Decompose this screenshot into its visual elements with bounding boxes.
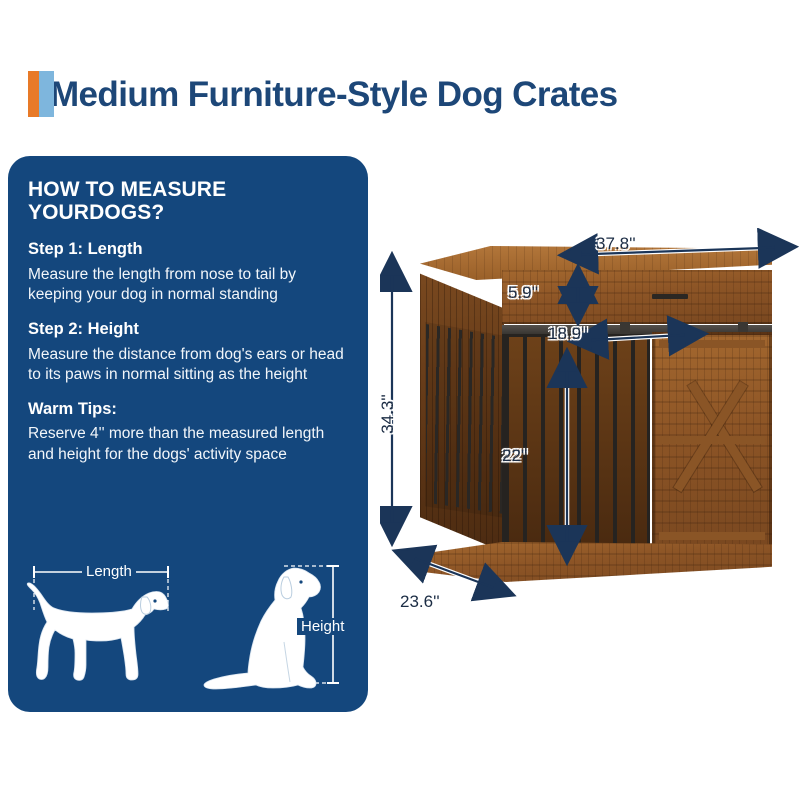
warm-tips-title: Warm Tips: (28, 400, 348, 420)
panel-heading: HOW TO MEASURE YOURDOGS? (28, 178, 348, 224)
accent-blue-stripe (39, 71, 54, 117)
crate-front-gate-bars (502, 334, 650, 548)
dog-measure-diagrams: Length Height (8, 546, 368, 706)
dimension-depth-label: 23.6'' (400, 592, 440, 612)
dog-crate-furniture (420, 246, 772, 576)
warm-tips-body: Reserve 4'' more than the measured lengt… (28, 424, 348, 465)
crate-front-face (502, 270, 772, 554)
dog-standing-diagram: Length (16, 550, 196, 702)
step-2-body: Measure the distance from dog's ears or … (28, 345, 348, 386)
barn-door-mid-rail (659, 436, 765, 444)
crate-left-metal-bars (426, 324, 504, 514)
barn-door-bottom-rail (659, 532, 765, 540)
dimension-total-height-label: 34.3'' (378, 394, 398, 434)
title-accent-bar (28, 71, 54, 117)
dog-sitting-diagram: Height (198, 550, 366, 702)
accent-orange-stripe (28, 71, 39, 117)
page-title: Medium Furniture-Style Dog Crates (50, 77, 618, 112)
how-to-measure-panel: HOW TO MEASURE YOURDOGS? Step 1: Length … (8, 156, 368, 712)
drawer-handle-icon (652, 294, 688, 299)
crate-drawer (502, 270, 772, 324)
length-label: Length (82, 563, 136, 580)
step-1-body: Measure the length from nose to tail by … (28, 265, 348, 306)
step-1-title: Step 1: Length (28, 240, 348, 260)
step-2-title: Step 2: Height (28, 320, 348, 340)
height-label: Height (297, 618, 348, 635)
dimension-drawer-height-label: 5.9'' (508, 283, 538, 303)
product-image-area: 37.8'' 5.9'' 18.9'' 22'' 23.6'' 34.3'' (380, 228, 800, 628)
barn-door-top-rail (659, 340, 765, 348)
sliding-barn-door (652, 332, 772, 548)
page-header: Medium Furniture-Style Dog Crates (0, 58, 800, 130)
dimension-door-width-label: 18.9'' (548, 324, 588, 344)
dimension-width-label: 37.8'' (596, 234, 636, 254)
dimension-interior-height-label: 22'' (502, 446, 527, 466)
crate-base-plinth (420, 542, 772, 582)
